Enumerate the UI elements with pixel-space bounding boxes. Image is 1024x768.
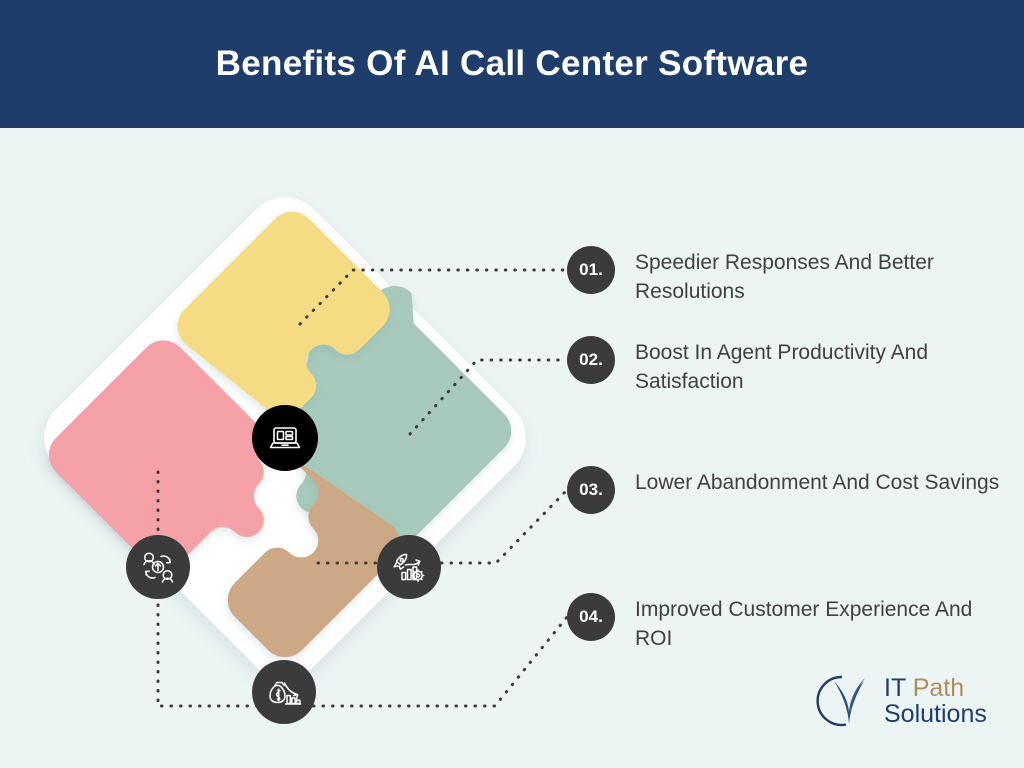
item-label: Boost In Agent Productivity And Satisfac… [635,336,1007,396]
logo-path-text: Path [913,674,964,702]
item-number-badge: 04. [567,593,615,641]
page-title: Benefits Of AI Call Center Software [216,44,809,84]
list-item[interactable]: 01. Speedier Responses And Better Resolu… [567,246,1007,306]
item-label: Improved Customer Experience And ROI [635,593,1007,653]
list-item[interactable]: 04. Improved Customer Experience And ROI [567,593,1007,653]
it-path-solutions-mark-icon [812,672,876,730]
item-number-badge: 02. [567,336,615,384]
logo-wordmark: IT Path Solutions [884,675,987,727]
page-header: Benefits Of AI Call Center Software [0,0,1024,128]
logo-line-1: IT Path [884,675,987,701]
brand-logo[interactable]: IT Path Solutions [812,672,987,730]
item-number-badge: 03. [567,466,615,514]
logo-it-text: IT [884,674,913,702]
list-item[interactable]: 02. Boost In Agent Productivity And Sati… [567,336,1007,396]
item-label: Speedier Responses And Better Resolution… [635,246,1007,306]
item-label: Lower Abandonment And Cost Savings [635,466,999,497]
item-number-badge: 01. [567,246,615,294]
list-item[interactable]: 03. Lower Abandonment And Cost Savings [567,466,999,514]
logo-line-2: Solutions [884,701,987,727]
